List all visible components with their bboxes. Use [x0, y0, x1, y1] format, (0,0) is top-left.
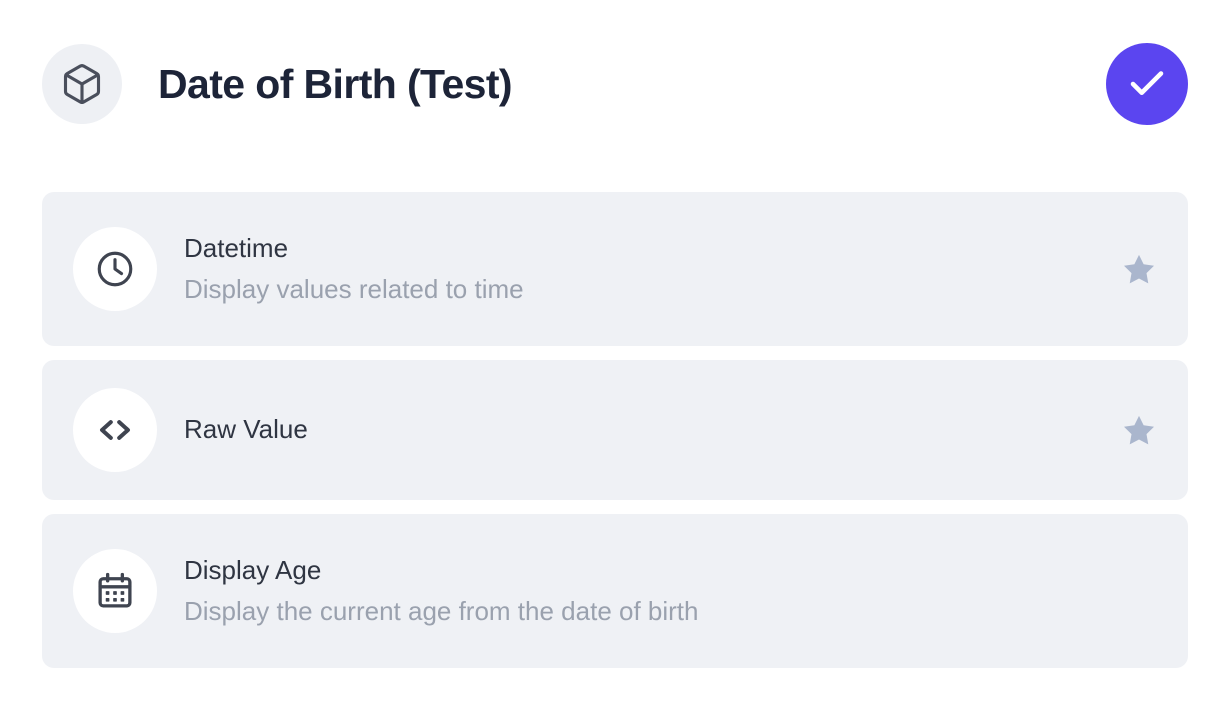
list-item-subtitle: Display the current age from the date of…: [184, 597, 699, 626]
list-item-text: Raw Value: [184, 415, 308, 444]
list-item[interactable]: Datetime Display values related to time: [42, 192, 1188, 346]
code-brackets-icon: [73, 388, 157, 472]
calendar-icon: [73, 549, 157, 633]
list-item-text: Display Age Display the current age from…: [184, 556, 699, 625]
list-item-title: Raw Value: [184, 415, 308, 444]
list-item-subtitle: Display values related to time: [184, 275, 524, 304]
clock-icon: [73, 227, 157, 311]
list-item-title: Datetime: [184, 234, 524, 263]
star-icon[interactable]: [1120, 250, 1158, 288]
page-header: Date of Birth (Test): [42, 36, 1188, 132]
option-list: Datetime Display values related to time …: [42, 192, 1188, 682]
box-icon: [42, 44, 122, 124]
list-item[interactable]: Raw Value: [42, 360, 1188, 500]
check-icon[interactable]: [1106, 43, 1188, 125]
list-item-title: Display Age: [184, 556, 699, 585]
star-icon[interactable]: [1120, 411, 1158, 449]
list-item[interactable]: Display Age Display the current age from…: [42, 514, 1188, 668]
field-type-options-page: Date of Birth (Test) Datetime Display va…: [0, 0, 1216, 704]
page-title: Date of Birth (Test): [158, 64, 512, 105]
list-item-text: Datetime Display values related to time: [184, 234, 524, 303]
